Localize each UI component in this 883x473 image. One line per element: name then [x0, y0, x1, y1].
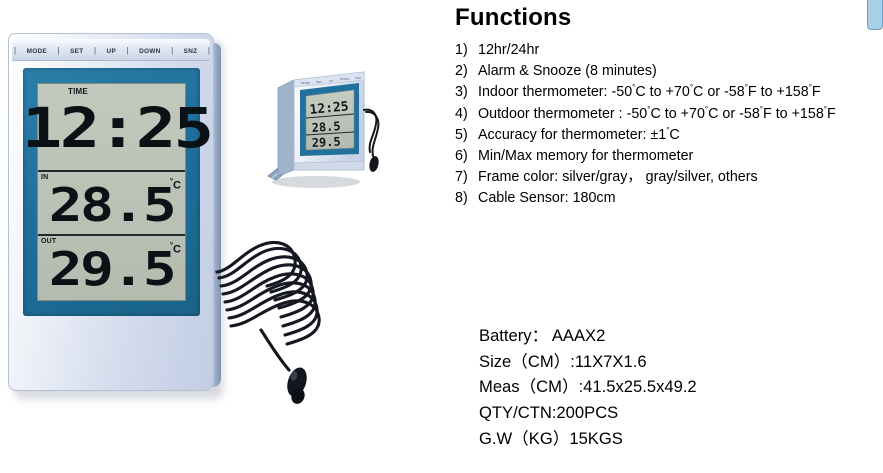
- svg-text:DOWN: DOWN: [340, 77, 350, 81]
- button-separator: |: [208, 47, 210, 55]
- small-lcd-outdoor: 29.5: [311, 135, 341, 150]
- button-set[interactable]: SET: [70, 48, 83, 55]
- list-item-number: 1): [455, 40, 478, 61]
- button-snooze[interactable]: SNZ: [184, 48, 198, 55]
- lcd-label-time: TIME: [68, 87, 88, 96]
- list-item-text: Outdoor thermometer : -50°C to +70°C or …: [478, 104, 883, 125]
- svg-text:UP: UP: [329, 79, 333, 83]
- list-item-number: 4): [455, 104, 478, 125]
- list-item-text: 12hr/24hr: [478, 40, 883, 61]
- button-mode[interactable]: MODE: [27, 48, 47, 55]
- list-item-text: Accuracy for thermometer: ±1°C: [478, 125, 883, 146]
- thermometer-angled-view: MODESET UPDOWNSNZ 12:25 28.5 29.5: [258, 58, 388, 193]
- list-item-text: Min/Max memory for thermometer: [478, 146, 883, 167]
- list-item: 1) 12hr/24hr: [455, 40, 883, 61]
- lcd-unit-outdoor: °C: [170, 242, 181, 256]
- list-item-text: Alarm & Snooze (8 minutes): [478, 61, 883, 82]
- list-item: 4) Outdoor thermometer : -50°C to +70°C …: [455, 104, 883, 125]
- spec-meas: Meas（CM）:41.5x25.5x49.2: [479, 374, 883, 400]
- list-item: 6) Min/Max memory for thermometer: [455, 146, 883, 167]
- spec-qty-ctn: QTY/CTN:200PCS: [479, 400, 883, 426]
- list-item: 3) Indoor thermometer: -50°C to +70°C or…: [455, 82, 883, 103]
- list-item: 7) Frame color: silver/gray， gray/silver…: [455, 167, 883, 188]
- thermometer-front-view: | MODE | SET | UP | DOWN | SNZ | TIME 12…: [8, 33, 221, 396]
- lcd-unit-indoor-letter: C: [173, 180, 181, 192]
- page-title: Functions: [455, 4, 571, 32]
- svg-text:MODE: MODE: [301, 81, 310, 85]
- button-separator: |: [171, 47, 173, 55]
- functions-list: 1) 12hr/24hr 2) Alarm & Snooze (8 minute…: [455, 40, 883, 210]
- lcd-pane-outdoor: OUT 29.5 °C: [38, 236, 185, 298]
- list-item-number: 6): [455, 146, 478, 167]
- list-item: 5) Accuracy for thermometer: ±1°C: [455, 125, 883, 146]
- cable-sensor-coil: [215, 230, 350, 410]
- lcd-pane-time: TIME 12:25: [38, 84, 185, 172]
- lcd-screen: TIME 12:25 IN 28.5 °C OUT 29.5 °C: [37, 83, 186, 301]
- small-sensor-probe-icon: [368, 155, 380, 173]
- button-up[interactable]: UP: [107, 48, 116, 55]
- spec-gross-weight: G.W（KG）15KGS: [479, 426, 883, 452]
- button-separator: |: [14, 47, 16, 55]
- spec-size: Size（CM）:11X7X1.6: [479, 349, 883, 375]
- packaging-specs-block: Battery： AAAX2 Size（CM）:11X7X1.6 Meas（CM…: [479, 323, 883, 452]
- list-item-number: 3): [455, 82, 478, 103]
- button-separator: |: [127, 47, 129, 55]
- list-item-number: 7): [455, 167, 478, 188]
- svg-text:SNZ: SNZ: [355, 76, 361, 80]
- button-down[interactable]: DOWN: [139, 48, 160, 55]
- button-separator: |: [94, 47, 96, 55]
- svg-text:SET: SET: [316, 80, 322, 84]
- list-item-text: Indoor thermometer: -50°C to +70°C or -5…: [478, 82, 883, 103]
- lcd-unit-indoor: °C: [170, 178, 181, 192]
- list-item-text: Frame color: silver/gray， gray/silver, o…: [478, 167, 883, 188]
- button-separator: |: [57, 47, 59, 55]
- lcd-pane-indoor: IN 28.5 °C: [38, 172, 185, 236]
- product-spec-page: | MODE | SET | UP | DOWN | SNZ | TIME 12…: [0, 0, 883, 473]
- list-item-text: Cable Sensor: 180cm: [478, 188, 883, 209]
- list-item-number: 2): [455, 61, 478, 82]
- list-item: 8) Cable Sensor: 180cm: [455, 188, 883, 209]
- list-item-number: 5): [455, 125, 478, 146]
- specification-text-column: Functions 1) 12hr/24hr 2) Alarm & Snooze…: [455, 0, 883, 473]
- lcd-value-time: 12:25: [22, 96, 201, 160]
- lcd-unit-outdoor-letter: C: [173, 244, 181, 256]
- spec-battery: Battery： AAAX2: [479, 323, 883, 349]
- list-item-number: 8): [455, 188, 478, 209]
- sensor-probe-icon: [284, 365, 310, 406]
- device-buttons: | MODE | SET | UP | DOWN | SNZ |: [14, 44, 210, 58]
- list-item: 2) Alarm & Snooze (8 minutes): [455, 61, 883, 82]
